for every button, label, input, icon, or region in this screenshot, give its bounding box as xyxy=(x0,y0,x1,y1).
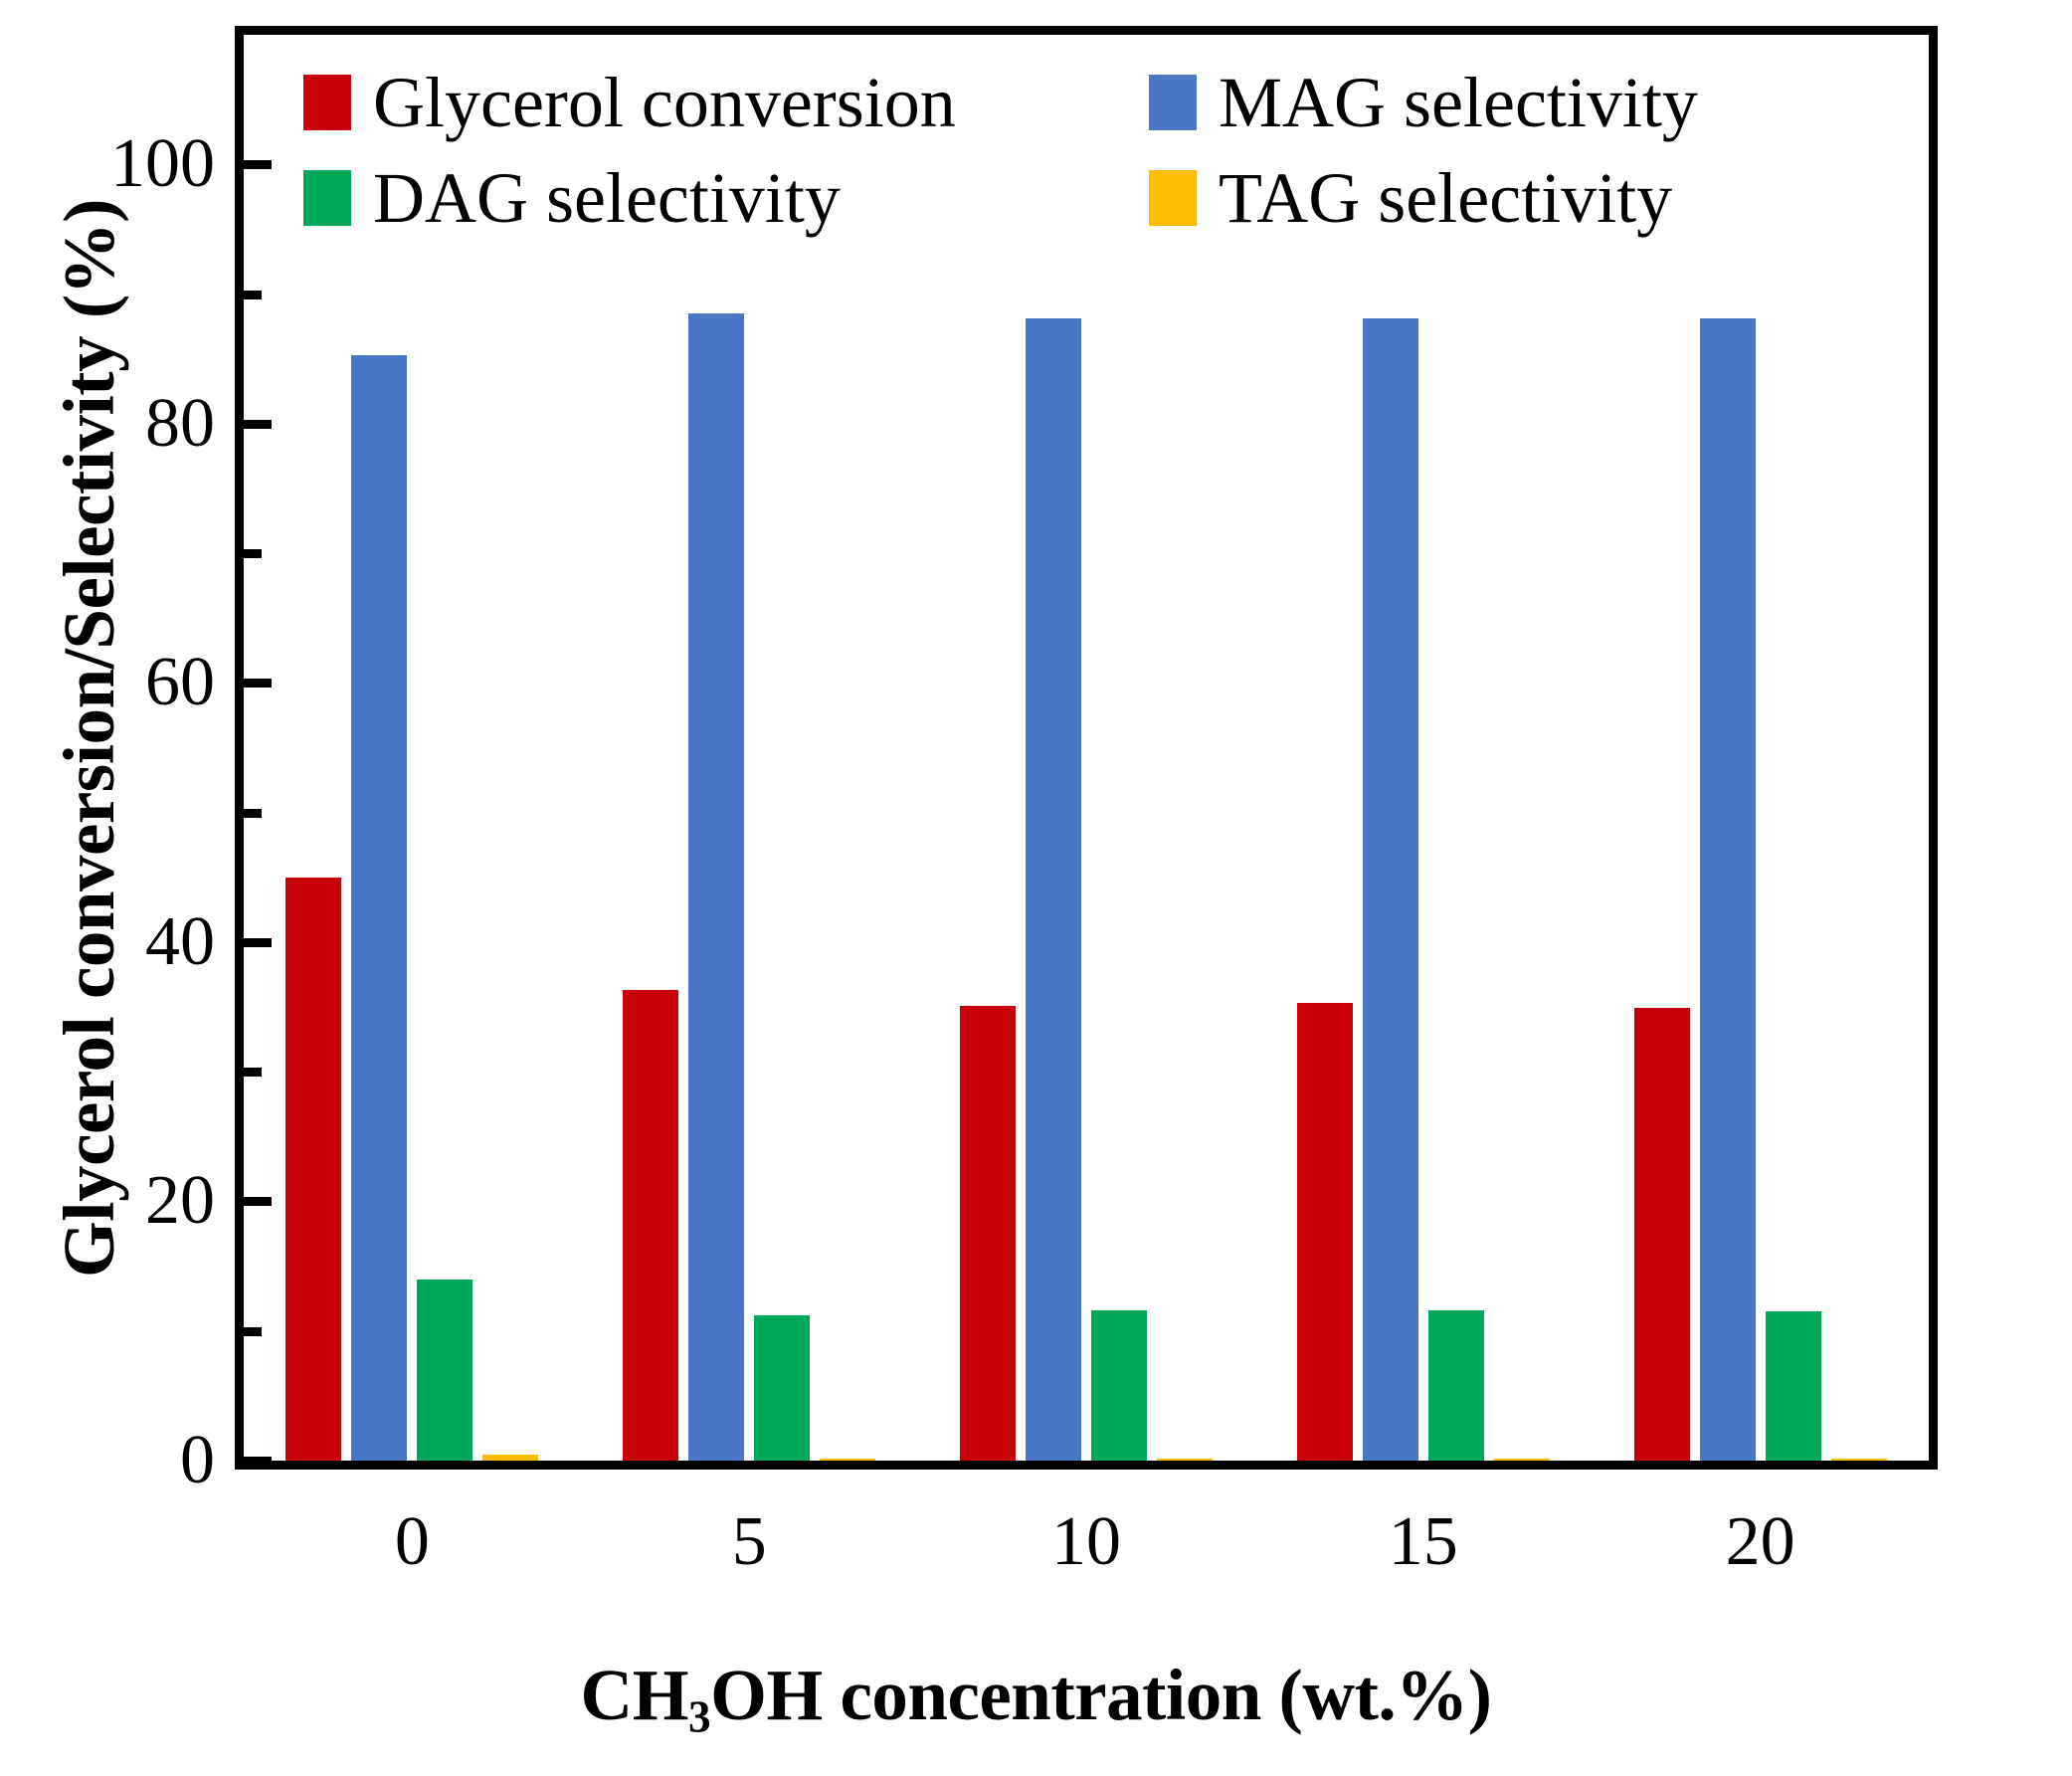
bar xyxy=(1297,1003,1353,1461)
x-axis-tick-label: 10 xyxy=(987,1502,1186,1582)
bar xyxy=(754,1315,810,1461)
bar xyxy=(820,1459,875,1461)
bar xyxy=(960,1006,1016,1461)
bars-layer xyxy=(244,35,1929,1461)
x-axis-tick-label: 20 xyxy=(1661,1502,1860,1582)
bar xyxy=(1494,1459,1550,1461)
legend-swatch-icon xyxy=(1149,75,1197,130)
legend-label: DAG selectivity xyxy=(373,162,841,234)
legend-row: Glycerol conversion MAG selectivity xyxy=(303,55,1875,150)
legend-item-mag-selectivity[interactable]: MAG selectivity xyxy=(1149,67,1698,138)
bar xyxy=(351,355,407,1461)
bar xyxy=(623,990,678,1461)
bar xyxy=(1831,1459,1887,1461)
legend-item-glycerol-conversion[interactable]: Glycerol conversion xyxy=(303,67,1149,138)
bar xyxy=(1363,318,1418,1461)
bar xyxy=(482,1455,538,1462)
y-axis-tick-label: 20 xyxy=(56,1166,215,1236)
x-axis-title: CH3OH concentration (wt.%) xyxy=(0,1654,2072,1743)
bar xyxy=(688,313,744,1461)
x-axis-tick-label: 15 xyxy=(1324,1502,1523,1582)
x-axis-title-pre: CH xyxy=(581,1655,689,1735)
bar xyxy=(1026,318,1081,1461)
legend-row: DAG selectivity TAG selectivity xyxy=(303,150,1875,246)
y-axis-tick-label: 40 xyxy=(56,907,215,977)
y-axis-tick-label: 100 xyxy=(56,129,215,199)
y-axis-tick-label: 60 xyxy=(56,648,215,717)
plot-area: Glycerol conversion MAG selectivity DAG … xyxy=(235,26,1938,1470)
bar xyxy=(285,878,341,1461)
x-axis-tick-label: 5 xyxy=(650,1502,848,1582)
x-axis-title-post: OH concentration (wt.%) xyxy=(710,1655,1491,1735)
legend-swatch-icon xyxy=(303,170,351,226)
bar xyxy=(1091,1310,1147,1461)
y-axis-tick-label: 0 xyxy=(56,1426,215,1495)
x-axis-tick-label: 0 xyxy=(312,1502,511,1582)
legend-swatch-icon xyxy=(1149,170,1197,226)
bar xyxy=(1634,1008,1690,1461)
bar xyxy=(1428,1310,1484,1461)
legend-label: Glycerol conversion xyxy=(373,67,956,138)
legend-label: TAG selectivity xyxy=(1219,162,1672,234)
bar xyxy=(1766,1311,1821,1461)
legend: Glycerol conversion MAG selectivity DAG … xyxy=(303,55,1875,246)
legend-item-dag-selectivity[interactable]: DAG selectivity xyxy=(303,162,1149,234)
legend-swatch-icon xyxy=(303,75,351,130)
chart-figure: Glycerol conversion/Selectivity (%) 0204… xyxy=(0,0,2072,1776)
x-axis-title-subscript: 3 xyxy=(688,1692,710,1742)
y-axis-tick-label: 80 xyxy=(56,389,215,459)
bar xyxy=(1157,1459,1213,1461)
bar xyxy=(417,1280,472,1461)
legend-label: MAG selectivity xyxy=(1219,67,1698,138)
bar xyxy=(1700,318,1756,1461)
legend-item-tag-selectivity[interactable]: TAG selectivity xyxy=(1149,162,1672,234)
